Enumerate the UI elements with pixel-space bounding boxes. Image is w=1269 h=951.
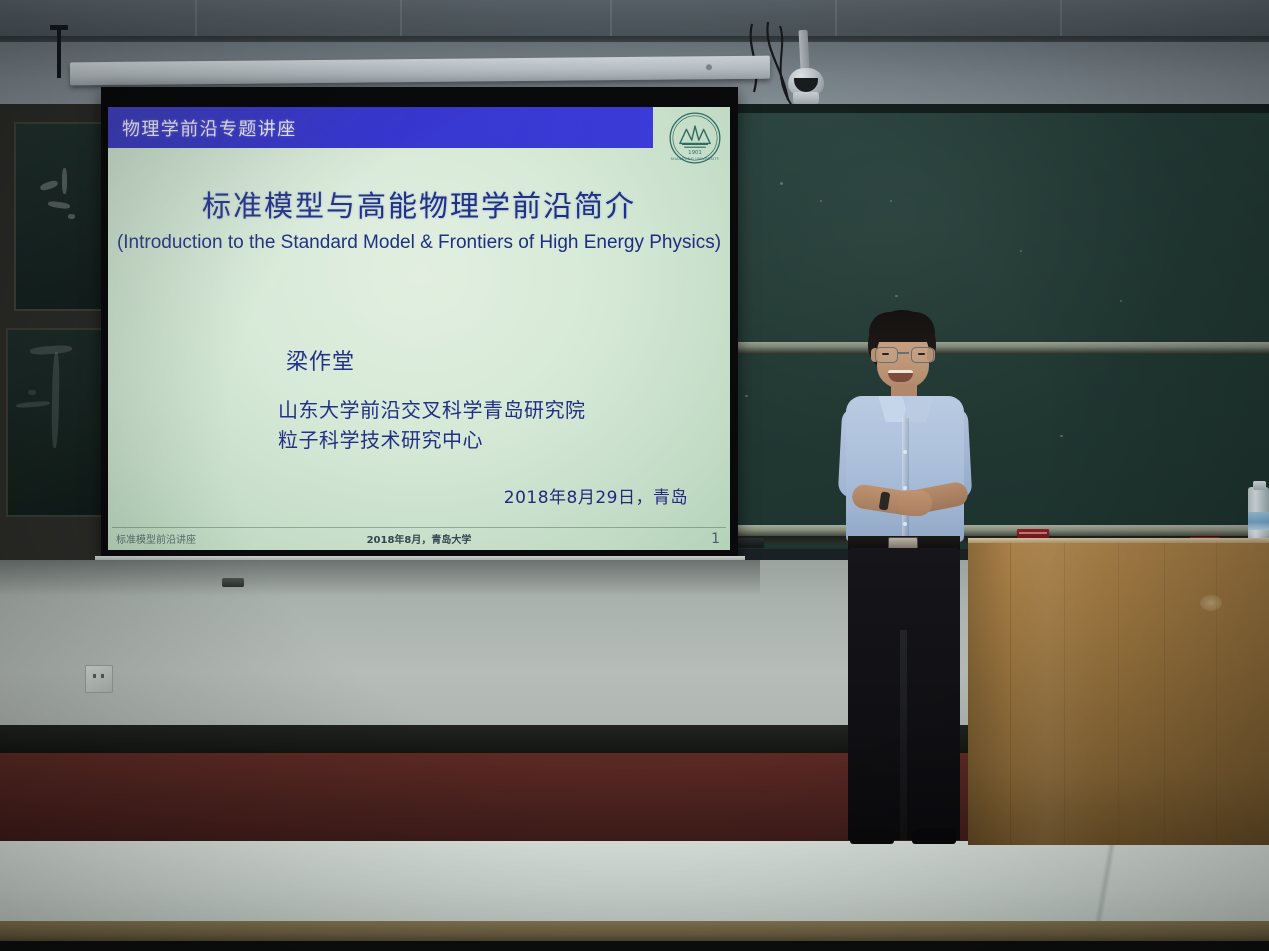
slide-footer-divider [112,527,726,528]
ceiling-hook-cable [57,26,61,78]
camera-base [793,92,819,104]
stage-wood-trim [0,921,1269,943]
ceiling-seam [195,0,197,40]
housing-sensor-icon [706,64,712,70]
presenter [820,300,1020,850]
left-chalkboard-panel [14,122,106,311]
svg-text:1901: 1901 [688,150,702,156]
slide-title-chinese: 标准模型与高能物理学前沿简介 [108,183,730,225]
slide-date-place: 2018年8月29日，青岛 [504,483,688,508]
presentation-slide: 物理学前沿专题讲座 1901 SHANDONG UNIVERSITY SHAND… [108,107,730,550]
slide-affiliation-line-2: 粒子科学技术研究中心 [278,425,586,455]
hair-fringe [869,312,935,342]
wall-power-outlet[interactable] [85,665,113,693]
shirt-button [903,450,907,454]
shoe-left [850,828,894,844]
shandong-university-seal-icon: 1901 SHANDONG UNIVERSITY SHANDONG UNIVER… [668,111,722,165]
screen-pull-handle[interactable] [222,578,244,587]
podium-highlight [1200,595,1222,611]
slide-title-english: (Introduction to the Standard Model & Fr… [108,232,730,254]
slide-footer-center: 2018年8月，青岛大学 [108,531,730,546]
lecture-hall-photo: 物理学前沿专题讲座 1901 SHANDONG UNIVERSITY SHAND… [0,0,1269,951]
board-marker[interactable] [738,538,764,547]
chalkboard-eraser[interactable] [1017,529,1049,538]
left-chalkboard-panel-lower [6,328,106,517]
slide-affiliation-line-1: 山东大学前沿交叉科学青岛研究院 [278,395,586,425]
stage-panel-seam [1005,841,1205,927]
water-bottle-cap [1253,481,1266,490]
ceiling-seam [400,0,402,40]
slide-page-number: 1 [711,531,720,547]
shoe-right [912,828,956,844]
water-bottle-label [1248,512,1269,530]
chalkboard-top-edge [730,104,1269,113]
clasped-hands [898,490,932,516]
slide-author-name: 梁作堂 [286,344,355,376]
ceiling-seam [1060,0,1062,40]
stage-bottom-shadow [0,941,1269,951]
svg-text:SHANDONG UNIVERSITY: SHANDONG UNIVERSITY [668,111,670,112]
ceiling-seam [610,0,612,40]
ceiling-panels [0,0,1269,40]
svg-text:SHANDONG UNIVERSITY: SHANDONG UNIVERSITY [671,157,720,161]
shirt-button [903,522,907,526]
slide-affiliation: 山东大学前沿交叉科学青岛研究院 粒子科学技术研究中心 [278,395,586,455]
trouser-leg-gap [900,630,907,840]
wall-shadow [0,560,760,596]
shirt-button [903,486,907,490]
slide-header-title: 物理学前沿专题讲座 [122,115,297,141]
